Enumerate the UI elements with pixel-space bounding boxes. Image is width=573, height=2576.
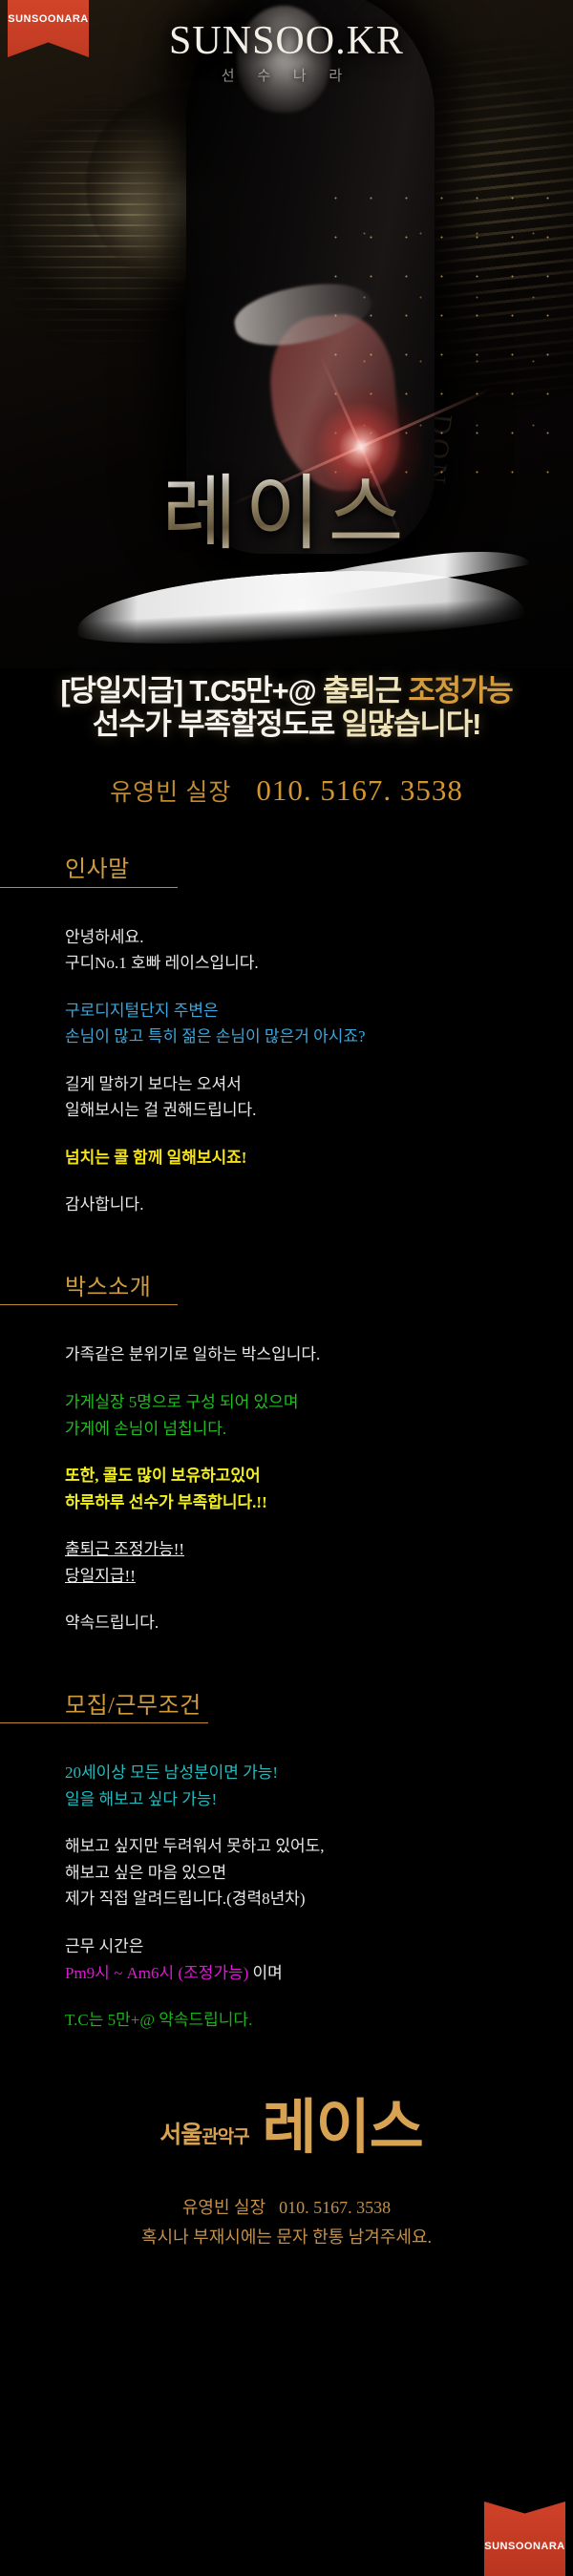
- text-line: 손님이 많고 특히 젊은 손님이 많은거 아시죠?: [65, 1027, 366, 1045]
- text-line: 구디No.1 호빠 레이스입니다.: [65, 954, 259, 972]
- headline-line-2: 선수가 부족할정도로 일많습니다!: [0, 707, 573, 741]
- paragraph: 감사합니다.: [65, 1192, 573, 1218]
- text-line: 가게실장 5명으로 구성 되어 있으며: [65, 1393, 298, 1411]
- paragraph-pay: T.C는 5만+@ 약속드립니다.: [65, 2007, 573, 2034]
- top-contact-phone[interactable]: 010. 5167. 3538: [256, 773, 463, 807]
- section-box-intro-body: 가족같은 분위기로 일하는 박스입니다. 가게실장 5명으로 구성 되어 있으며…: [0, 1305, 573, 1649]
- text-line: 안녕하세요.: [65, 928, 143, 946]
- work-hours-suffix: 이며: [248, 1964, 283, 1982]
- footer-contact-phone[interactable]: 010. 5167. 3538: [279, 2198, 391, 2217]
- hero-brand-title-block: 레이스: [0, 473, 573, 555]
- section-box-intro: 박스소개 가족같은 분위기로 일하는 박스입니다. 가게실장 5명으로 구성 되…: [0, 1232, 573, 1650]
- section-box-intro-title: 박스소개: [65, 1276, 178, 1302]
- headline-1-part-3: 조정가능: [408, 674, 512, 707]
- text-line: 가게에 손님이 넘칩니다.: [65, 1420, 226, 1438]
- footer: 서울관악구 레이스 유영빈 실장010. 5167. 3538 혹시나 부재시에…: [0, 2047, 573, 2253]
- text-line: 가족같은 분위기로 일하는 박스입니다.: [65, 1345, 320, 1363]
- text-line: T.C는 5만+@ 약속드립니다.: [65, 2011, 252, 2029]
- section-recruitment-body: 20세이상 모든 남성분이면 가능! 일을 해보고 싶다 가능! 해보고 싶지만…: [0, 1723, 573, 2046]
- top-contact-name: 유영빈 실장: [110, 780, 231, 806]
- work-hours-label: 근무 시간은: [65, 1937, 143, 1955]
- paragraph-work-hours: 근무 시간은 Pm9시 ~ Am6시 (조정가능) 이며: [65, 1933, 573, 1986]
- paragraph: 가게실장 5명으로 구성 되어 있으며 가게에 손님이 넘칩니다.: [65, 1389, 573, 1442]
- text-line: 길게 말하기 보다는 오셔서: [65, 1075, 242, 1093]
- section-greeting-body: 안녕하세요. 구디No.1 호빠 레이스입니다. 구로디지털단지 주변은 손님이…: [0, 888, 573, 1232]
- ribbon-label: SUNSOONARA: [8, 13, 88, 25]
- section-greeting-header: 인사말: [0, 813, 573, 888]
- footer-region-district: 관악구: [202, 2127, 248, 2147]
- text-line: 해보고 싶지만 두려워서 못하고 있어도,: [65, 1837, 325, 1855]
- footer-logo: 서울관악구 레이스: [0, 2101, 573, 2155]
- paragraph: 구로디지털단지 주변은 손님이 많고 특히 젊은 손님이 많은거 아시죠?: [65, 998, 573, 1050]
- text-line: 해보고 싶은 마음 있으면: [65, 1864, 226, 1882]
- footer-brand-name: 레이스: [263, 2101, 423, 2155]
- text-line: 넘치는 콜 함께 일해보시죠!: [65, 1149, 246, 1167]
- text-line: 제가 직접 알려드립니다.(경력8년차): [65, 1890, 306, 1908]
- paragraph-highlight: 또한, 콜도 많이 보유하고있어 하루하루 선수가 부족합니다.!!: [65, 1463, 573, 1515]
- headline-1-part-2: 출퇴근: [323, 674, 408, 707]
- text-line: 일해보시는 걸 권해드립니다.: [65, 1101, 256, 1119]
- headline-2-part-2: 일많습니다!: [341, 707, 480, 741]
- footer-region-city: 서울: [159, 2122, 202, 2148]
- text-line: 감사합니다.: [65, 1195, 143, 1214]
- hero-banner: DON SUNSOONARA SUNSOO.KR 선 수 나 라 레이스: [0, 0, 573, 668]
- headline-2-part-1: 선수가 부족할정도로: [93, 707, 342, 741]
- text-line: 20세이상 모든 남성분이면 가능!: [65, 1763, 278, 1782]
- hero-brand-title: 레이스: [161, 473, 411, 555]
- advertisement-page: DON SUNSOONARA SUNSOO.KR 선 수 나 라 레이스 [당일…: [0, 0, 573, 2576]
- ribbon-label-bottom: SUNSOONARA: [484, 2541, 564, 2552]
- top-contact-strip: 유영빈 실장010. 5167. 3538: [0, 752, 573, 813]
- paragraph: 가족같은 분위기로 일하는 박스입니다.: [65, 1341, 573, 1368]
- section-recruitment-title: 모집/근무조건: [65, 1694, 208, 1721]
- text-line: 약속드립니다.: [65, 1614, 159, 1632]
- headline-line-1: [당일지급] T.C5만+@ 출퇴근 조정가능: [0, 674, 573, 707]
- paragraph: 해보고 싶지만 두려워서 못하고 있어도, 해보고 싶은 마음 있으면 제가 직…: [65, 1833, 573, 1912]
- text-line: 구로디지털단지 주변은: [65, 1002, 219, 1020]
- section-greeting: 인사말 안녕하세요. 구디No.1 호빠 레이스입니다. 구로디지털단지 주변은…: [0, 813, 573, 1232]
- sparkle-specks: [315, 172, 573, 487]
- work-hours-value: Pm9시 ~ Am6시 (조정가능): [65, 1964, 248, 1982]
- text-line: 당일지급!!: [65, 1567, 136, 1585]
- section-recruitment-header: 모집/근무조건: [0, 1650, 573, 1724]
- text-line: 하루하루 선수가 부족합니다.!!: [65, 1493, 267, 1511]
- site-subtitle: 선 수 나 라: [0, 65, 573, 85]
- text-line: 또한, 콜도 많이 보유하고있어: [65, 1467, 261, 1485]
- headline-1-part-1: [당일지급] T.C5만+@: [60, 674, 323, 707]
- paragraph: 20세이상 모든 남성분이면 가능! 일을 해보고 싶다 가능!: [65, 1760, 573, 1812]
- footer-region: 서울관악구: [159, 2123, 248, 2155]
- paragraph: 약속드립니다.: [65, 1610, 573, 1636]
- paragraph: 길게 말하기 보다는 오셔서 일해보시는 걸 권해드립니다.: [65, 1071, 573, 1124]
- section-recruitment: 모집/근무조건 20세이상 모든 남성분이면 가능! 일을 해보고 싶다 가능!…: [0, 1650, 573, 2047]
- paragraph-underlined: 출퇴근 조정가능!! 당일지급!!: [65, 1536, 573, 1589]
- footer-contact-line: 유영빈 실장010. 5167. 3538: [0, 2193, 573, 2224]
- footer-note: 혹시나 부재시에는 문자 한통 남겨주세요.: [0, 2223, 573, 2253]
- section-greeting-title: 인사말: [65, 857, 178, 884]
- text-line: 출퇴근 조정가능!!: [65, 1540, 184, 1558]
- text-line: 일을 해보고 싶다 가능!: [65, 1790, 217, 1808]
- sunsoonara-ribbon-logo-bottom[interactable]: SUNSOONARA: [484, 2502, 565, 2576]
- footer-contact-name: 유영빈 실장: [182, 2198, 265, 2217]
- paragraph: 안녕하세요. 구디No.1 호빠 레이스입니다.: [65, 924, 573, 977]
- footer-contact: 유영빈 실장010. 5167. 3538 혹시나 부재시에는 문자 한통 남겨…: [0, 2193, 573, 2253]
- section-box-intro-header: 박스소개: [0, 1232, 573, 1306]
- paragraph-highlight: 넘치는 콜 함께 일해보시죠!: [65, 1145, 573, 1172]
- headline-banner: [당일지급] T.C5만+@ 출퇴근 조정가능 선수가 부족할정도로 일많습니다…: [0, 668, 573, 752]
